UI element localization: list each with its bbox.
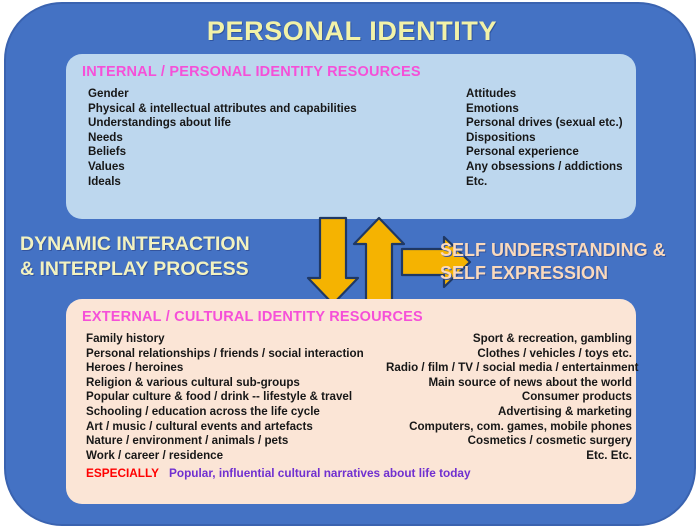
list-item: Etc. Etc. [386,449,632,464]
list-item: Beliefs [88,145,466,160]
list-item: Radio / film / TV / social media / enter… [386,361,632,376]
list-item: Personal experience [466,145,634,160]
down-arrow-icon [308,218,358,304]
list-item: Needs [88,131,466,146]
internal-left-column: Gender Physical & intellectual attribute… [88,87,466,189]
internal-resources-columns: Gender Physical & intellectual attribute… [66,87,636,189]
especially-text: Popular, influential cultural narratives… [169,466,471,480]
list-item: Ideals [88,175,466,190]
self-understanding-line1: SELF UNDERSTANDING & [440,240,666,260]
list-item: Emotions [466,102,634,117]
list-item: Gender [88,87,466,102]
list-item: Any obsessions / addictions [466,160,634,175]
list-item: Consumer products [386,390,632,405]
internal-resources-panel: INTERNAL / PERSONAL IDENTITY RESOURCES G… [66,54,636,219]
list-item: Cosmetics / cosmetic surgery [386,434,632,449]
list-item: Popular culture & food / drink -- lifest… [86,390,386,405]
list-item: Art / music / cultural events and artefa… [86,420,386,435]
list-item: Personal relationships / friends / socia… [86,347,386,362]
list-item: Advertising & marketing [386,405,632,420]
list-item: Family history [86,332,386,347]
list-item: Attitudes [466,87,634,102]
list-item: Main source of news about the world [386,376,632,391]
external-resources-panel: EXTERNAL / CULTURAL IDENTITY RESOURCES F… [66,299,636,504]
external-left-column: Family history Personal relationships / … [86,332,386,463]
list-item: Personal drives (sexual etc.) [466,116,634,131]
self-understanding-label: SELF UNDERSTANDING & SELF EXPRESSION [440,239,690,285]
dynamic-interaction-label: DYNAMIC INTERACTION & INTERPLAY PROCESS [20,232,310,282]
self-understanding-line2: SELF EXPRESSION [440,263,608,283]
internal-resources-heading: INTERNAL / PERSONAL IDENTITY RESOURCES [82,64,636,80]
list-item: Physical & intellectual attributes and c… [88,102,466,117]
list-item: Work / career / residence [86,449,386,464]
dynamic-interaction-line2: & INTERPLAY PROCESS [20,258,249,280]
list-item: Computers, com. games, mobile phones [386,420,632,435]
especially-label: ESPECIALLY [86,466,159,480]
page-title: PERSONAL IDENTITY [6,16,698,47]
especially-row: ESPECIALLYPopular, influential cultural … [86,466,636,480]
list-item: Religion & various cultural sub-groups [86,376,386,391]
list-item: Nature / environment / animals / pets [86,434,386,449]
up-arrow-icon [354,218,404,304]
list-item: Dispositions [466,131,634,146]
list-item: Schooling / education across the life cy… [86,405,386,420]
dynamic-interaction-line1: DYNAMIC INTERACTION [20,233,250,255]
external-right-column: Sport & recreation, gambling Clothes / v… [386,332,636,463]
internal-right-column: Attitudes Emotions Personal drives (sexu… [466,87,634,189]
list-item: Clothes / vehicles / toys etc. [386,347,632,362]
list-item: Understandings about life [88,116,466,131]
list-item: Sport & recreation, gambling [386,332,632,347]
external-resources-columns: Family history Personal relationships / … [66,332,636,463]
list-item: Etc. [466,175,634,190]
list-item: Values [88,160,466,175]
list-item: Heroes / heroines [86,361,386,376]
diagram-frame: PERSONAL IDENTITY INTERNAL / PERSONAL ID… [4,2,696,526]
external-resources-heading: EXTERNAL / CULTURAL IDENTITY RESOURCES [82,309,636,325]
